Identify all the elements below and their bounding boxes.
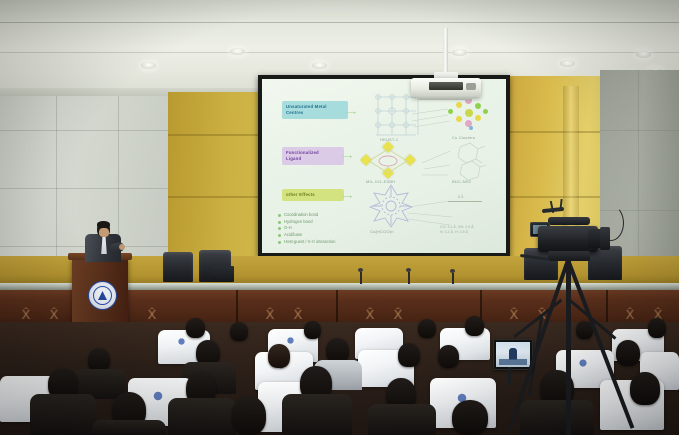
downlight <box>312 62 327 69</box>
slide-connector-lines <box>262 79 506 253</box>
camera-top-handle <box>548 217 590 225</box>
audience-head <box>268 344 290 368</box>
audience-head <box>230 322 248 341</box>
monitor-preview-image <box>496 342 530 367</box>
projector-lens <box>466 83 476 90</box>
projector-mount-pole <box>443 28 448 78</box>
stage-laptop <box>212 266 234 282</box>
table-microphone <box>408 272 410 284</box>
audience-head <box>648 318 666 338</box>
monitor-arm <box>508 367 511 385</box>
tripod-leg <box>566 260 571 435</box>
audience-head <box>418 319 436 338</box>
speaker-hand <box>119 244 125 250</box>
audience-shoulders <box>30 394 96 435</box>
audience-head <box>452 400 488 435</box>
lecture-hall-photo: Unsaturated Metal Centres ⟶ Functionaliz… <box>0 0 679 435</box>
seat-logo-icon <box>578 358 588 368</box>
audience-head <box>630 372 660 405</box>
stage-chair <box>163 252 193 282</box>
audience-head <box>186 318 205 338</box>
table-microphone-head <box>406 268 411 272</box>
speaker-hair <box>97 221 110 228</box>
audience-shoulders <box>368 404 436 435</box>
projector-vent <box>429 82 463 90</box>
audience-shoulders <box>520 400 594 435</box>
audience-head <box>304 321 321 339</box>
table-microphone <box>360 272 362 284</box>
seat-logo-icon <box>177 337 186 346</box>
projector-base <box>417 95 473 100</box>
downlight <box>452 49 467 56</box>
university-seal-icon <box>88 281 117 310</box>
downlight <box>560 60 575 67</box>
camera-lens-hood <box>600 227 610 250</box>
seat-logo-icon <box>152 390 164 402</box>
camera-lcd-monitor <box>493 339 533 370</box>
table-microphone <box>452 273 454 284</box>
audience-head <box>398 343 420 367</box>
audience-head <box>232 396 266 435</box>
seat-logo-icon <box>286 336 295 345</box>
table-microphone-head <box>450 269 455 273</box>
audience-head <box>438 345 459 368</box>
audience-head <box>616 340 640 366</box>
audience-shoulders <box>168 398 236 435</box>
table-microphone-head <box>358 268 363 272</box>
presentation-slide: Unsaturated Metal Centres ⟶ Functionaliz… <box>262 79 506 253</box>
downlight <box>141 62 156 69</box>
downlight <box>230 48 245 55</box>
audience-shoulders <box>92 420 166 435</box>
downlight <box>636 51 651 58</box>
audience-shoulders <box>282 394 352 435</box>
audience-head <box>465 316 484 336</box>
projection-screen: Unsaturated Metal Centres ⟶ Functionaliz… <box>262 79 506 253</box>
speaker-face <box>99 228 109 237</box>
